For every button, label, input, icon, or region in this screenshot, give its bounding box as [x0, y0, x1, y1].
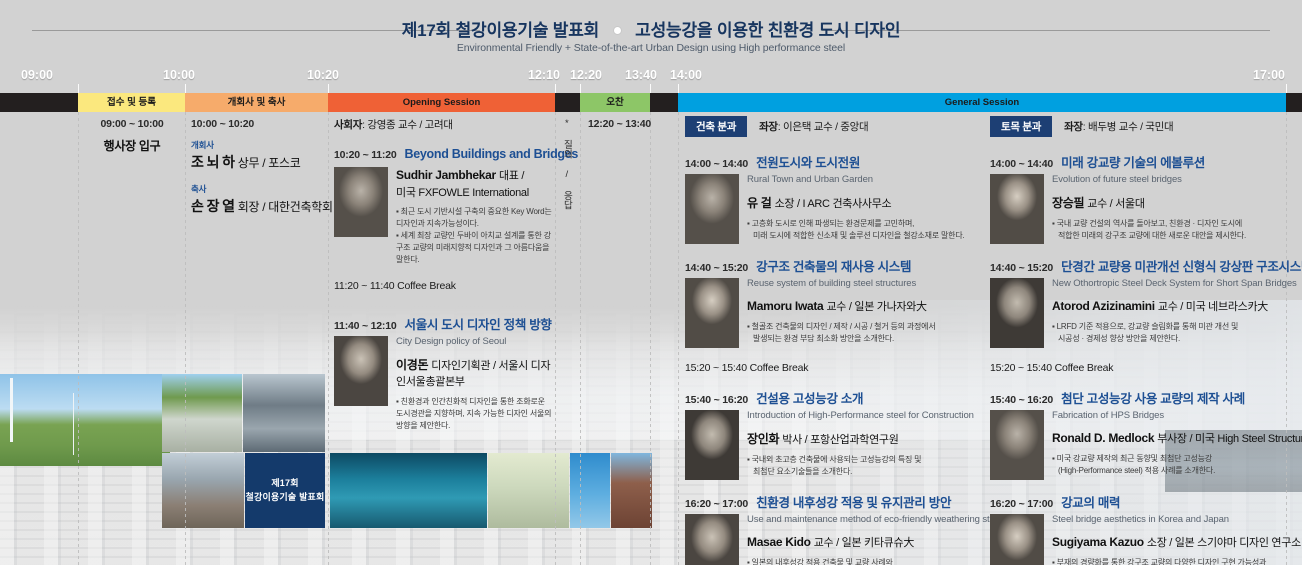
coffee-break-opening: 11:20 ~ 11:40 Coffee Break [334, 280, 552, 292]
timeline-bar-general-session: General Session [678, 93, 1286, 112]
talk-time: 14:00 ~ 14:40 [685, 158, 748, 170]
timeline-gap-start [0, 93, 78, 112]
talk-item: 15:40 ~ 16:20 첨단 고성능강 사용 교량의 제작 사례 Fabri… [990, 388, 1302, 480]
opening-remark-speaker: 조 뇌 하 상무 / 포스코 [191, 152, 324, 172]
speaker-photo [685, 278, 739, 348]
collage-badge-line1: 제17회 [271, 478, 298, 488]
timeline-bar-registration: 접수 및 등록 [78, 93, 185, 112]
talk-title-en: Steel bridge aesthetics in Korea and Jap… [1052, 514, 1302, 525]
timeline-tick-1020 [328, 84, 329, 93]
speaker-photo [685, 410, 739, 480]
talk-time: 16:20 ~ 17:00 [990, 498, 1053, 510]
opening-remark-role: 회장 / 대한건축학회 [238, 200, 333, 214]
bullet-dot-icon [613, 26, 622, 35]
timeline-tick-1340 [650, 84, 651, 93]
talk-speaker-role: 교수 / 서울대 [1087, 198, 1144, 210]
session-architecture: 건축 분과 좌장: 이은택 교수 / 중앙대 14:00 ~ 14:40 전원도… [685, 116, 981, 565]
collage-badge: 제17회 철강이용기술 발표회 [245, 453, 325, 528]
talk-item: 14:00 ~ 14:40 전원도시와 도시전원 Rural Town and … [685, 152, 981, 244]
talk-speaker: 이경돈 디자인기획관 / 서울시 디자인서울총괄본부 [396, 356, 552, 389]
talk-title-ko: 단경간 교량용 미관개선 신형식 강상판 구조시스템 [1061, 256, 1302, 275]
opening-remark-label: 축사 [191, 183, 324, 195]
timeline-tick-1220 [580, 84, 581, 93]
title-event-number: 제17회 철강이용기술 발표회 [402, 21, 599, 40]
talk-title-en: Reuse system of building steel structure… [747, 278, 981, 289]
talk-speaker: 장승필 교수 / 서울대 [1052, 194, 1302, 211]
column-lunch: 12:20 ~ 13:40 [588, 118, 648, 130]
registration-title: 행사장 입구 [82, 137, 182, 154]
talk-bullet: ▪ 철골조 건축물의 디자인 / 제작 / 시공 / 철거 등의 과정에서 [747, 321, 981, 333]
page-title: 제17회 철강이용기술 발표회 고성능강을 이용한 친환경 도시 디자인 [0, 16, 1302, 41]
timeline-gap-end [1286, 93, 1302, 112]
chair-label: 좌장 [1064, 121, 1083, 133]
talk-title-en: City Design policy of Seoul [396, 336, 552, 347]
column-opening-remarks: 10:00 ~ 10:20 개회사 조 뇌 하 상무 / 포스코 축사 손 장 … [191, 118, 324, 216]
talk-title-en: New Othortropic Steel Deck System for Sh… [1052, 278, 1302, 289]
timeline-gap-1340-1400 [650, 93, 678, 112]
moderator-label: 사회자 [334, 119, 362, 131]
opening-remark-speaker: 손 장 열 회장 / 대한건축학회 [191, 196, 324, 216]
talk-item: 14:00 ~ 14:40 미래 강교량 기술의 에볼루션 Evolution … [990, 152, 1302, 244]
talk-speaker-role: 박사 / 포항산업과학연구원 [782, 434, 898, 446]
speaker-photo [334, 336, 388, 406]
talk-affiliation: 미국 FXFOWLE International [396, 184, 552, 200]
photo-bicycles [243, 374, 325, 452]
talk-bullet: (High-Performance steel) 적용 사례를 소개한다. [1052, 465, 1302, 477]
timeline-tick-1000 [185, 84, 186, 93]
talk-bullet: ▪ 일본의 내후성강 적용 건축물 및 교량 사례와 [747, 557, 981, 565]
talk-item: 14:40 ~ 15:20 단경간 교량용 미관개선 신형식 강상판 구조시스템… [990, 256, 1302, 348]
timeline-label-1000: 10:00 [163, 68, 195, 82]
timeline-bar-lunch: 오찬 [580, 93, 650, 112]
talk-speaker: Sugiyama Kazuo 소장 / 일본 스기야마 디자인 연구소 [1052, 534, 1302, 550]
talk-item: 15:40 ~ 16:20 건설용 고성능강 소개 Introduction o… [685, 388, 981, 480]
collage-badge-line2: 철강이용기술 발표회 [245, 492, 324, 502]
talk-speaker: 장인화 박사 / 포항산업과학연구원 [747, 430, 981, 447]
talk-speaker-role: 교수 / 일본 가나자와大 [826, 301, 926, 313]
talk-speaker-role: 대표 / [499, 170, 524, 182]
talk-bullet: ▪ LRFD 기준 적용으로, 강교량 슬림화를 통해 미관 개선 및 [1052, 321, 1302, 333]
talk-item: 16:20 ~ 17:00 강교의 매력 Steel bridge aesthe… [990, 492, 1302, 565]
speaker-photo [685, 514, 739, 565]
poster-header: 제17회 철강이용기술 발표회 고성능강을 이용한 친환경 도시 디자인 Env… [0, 0, 1302, 62]
timeline-bar-opening-session: Opening Session [328, 93, 555, 112]
talk-bullet: ▪ 친환경과 인간친화적 디자인을 통한 조화로운 도시경관을 지향하며, 지속… [396, 396, 552, 432]
timeline-label-1700: 17:00 [1253, 68, 1285, 82]
talk-time: 14:00 ~ 14:40 [990, 158, 1053, 170]
talk-bullet: ▪ 미국 강교량 제작의 최근 동향및 최첨단 고성능강 [1052, 453, 1302, 465]
divider-1340 [650, 112, 651, 565]
talk-item: 14:40 ~ 15:20 강구조 건축물의 재사용 시스템 Reuse sys… [685, 256, 981, 348]
registration-time: 09:00 ~ 10:00 [82, 118, 182, 130]
talk-bullet: ▪ 세계 최장 교량인 두바이 아치교 설계를 통한 강구조 교량의 미래지향적… [396, 230, 552, 266]
divider-1220 [580, 112, 581, 565]
talk-speaker-role: 교수 / 미국 네브라스카大 [1158, 301, 1268, 313]
photo-street-cyclists [162, 453, 244, 528]
speaker-photo [990, 514, 1044, 565]
divider-1000 [185, 112, 186, 565]
speaker-photo [990, 410, 1044, 480]
coffee-break-civil: 15:20 ~ 15:40 Coffee Break [990, 362, 1302, 374]
column-registration: 09:00 ~ 10:00 행사장 입구 [82, 118, 182, 154]
talk-title-ko: 강교의 매력 [1061, 492, 1120, 511]
timeline-tick-1700 [1286, 84, 1287, 93]
opening-remark-role: 상무 / 포스코 [238, 156, 301, 170]
talk-title-en: Use and maintenance method of eco-friend… [747, 514, 981, 525]
timeline-label-1220: 12:20 [570, 68, 602, 82]
page-subtitle: Environmental Friendly + State-of-the-ar… [0, 42, 1302, 54]
timeline-bar-opening-remarks: 개회사 및 축사 [185, 93, 328, 112]
talk-item: 10:20 ~ 11:20 Beyond Buildings and Bridg… [334, 147, 552, 266]
timeline: 09:00 10:00 10:20 12:10 12:20 13:40 14:0… [0, 68, 1302, 112]
divider-1210 [555, 112, 556, 565]
photo-village [162, 374, 242, 452]
talk-bullet: ▪ 국내외 초고층 건축물에 사용되는 고성능강의 특징 및 [747, 454, 981, 466]
talk-time: 15:40 ~ 16:20 [685, 394, 748, 406]
divider-1020 [328, 112, 329, 565]
photo-tower-blue [570, 453, 610, 528]
lunch-time: 12:20 ~ 13:40 [588, 118, 648, 130]
chair-label: 좌장 [759, 121, 778, 133]
opening-remark-item: 개회사 조 뇌 하 상무 / 포스코 [191, 139, 324, 172]
talk-title-ko: 전원도시와 도시전원 [756, 152, 860, 171]
talk-speaker: Sudhir Jambhekar 대표 / [396, 167, 552, 183]
talk-bullet: 시공성 · 경제성 향상 방안을 제안한다. [1052, 333, 1302, 345]
timeline-gap-1210-1220 [555, 93, 580, 112]
talk-time: 14:40 ~ 15:20 [990, 262, 1053, 274]
speaker-photo [334, 167, 388, 237]
section-tag-civil: 토목 분과 [990, 116, 1052, 137]
talk-speaker-role: 소장 / 일본 스기야마 디자인 연구소 [1147, 537, 1301, 549]
talk-bullet: ▪ 부재의 경량화를 통한 강구조 교량의 다양한 디자인 구현 가능성과 [1052, 557, 1302, 565]
talk-speaker: 유 걸 소장 / I ARC 건축사사무소 [747, 194, 981, 211]
talk-title-en: Fabrication of HPS Bridges [1052, 410, 1302, 421]
talk-title-ko: Beyond Buildings and Bridges [405, 147, 579, 161]
chair-value: : 배두병 교수 / 국민대 [1083, 121, 1174, 133]
photo-shell-structure [488, 453, 569, 528]
photo-dubai-bridge [330, 453, 487, 528]
talk-speaker: Masae Kido 교수 / 일본 키타큐슈大 [747, 534, 981, 550]
speaker-photo [685, 174, 739, 244]
opening-remark-item: 축사 손 장 열 회장 / 대한건축학회 [191, 183, 324, 216]
talk-item: 16:20 ~ 17:00 친환경 내후성강 적용 및 유지관리 방안 Use … [685, 492, 981, 565]
talk-title-en: Evolution of future steel bridges [1052, 174, 1302, 185]
speaker-photo [990, 174, 1044, 244]
talk-title-en: Introduction of High-Performance steel f… [747, 410, 981, 421]
talk-speaker: Atorod Azizinamini 교수 / 미국 네브라스카大 [1052, 298, 1302, 314]
talk-title-ko: 첨단 고성능강 사용 교량의 제작 사례 [1061, 388, 1245, 407]
chair-value: : 이은택 교수 / 중앙대 [778, 121, 869, 133]
talk-bullet: ▪ 고층화 도시로 인해 파생되는 환경문제를 고민하며, [747, 218, 981, 230]
photo-tower-bronze [611, 453, 652, 528]
talk-time: 14:40 ~ 15:20 [685, 262, 748, 274]
talk-title-ko: 친환경 내후성강 적용 및 유지관리 방안 [756, 492, 951, 511]
divider-0900 [78, 112, 79, 565]
timeline-tick-1400 [678, 84, 679, 93]
talk-title-ko: 건설용 고성능강 소개 [756, 388, 863, 407]
opening-session-moderator: 사회자: 강영종 교수 / 고려대 [334, 117, 552, 132]
timeline-label-1020: 10:20 [307, 68, 339, 82]
photo-wind-turbines [0, 374, 170, 466]
talk-title-ko: 강구조 건축물의 재사용 시스템 [756, 256, 911, 275]
section-tag-architecture: 건축 분과 [685, 116, 747, 137]
moderator-value: : 강영종 교수 / 고려대 [362, 119, 453, 131]
talk-title-ko: 서울시 도시 디자인 정책 방향 [405, 314, 552, 333]
opening-remarks-time: 10:00 ~ 10:20 [191, 118, 324, 130]
talk-speaker-role: 소장 / I ARC 건축사사무소 [775, 198, 892, 210]
talk-bullet: ▪ 국내 교량 건설의 역사를 돌아보고, 친환경 · 디자인 도시에 [1052, 218, 1302, 230]
divider-1400 [678, 112, 679, 565]
coffee-break-architecture: 15:20 ~ 15:40 Coffee Break [685, 362, 981, 374]
talk-bullet: 적합한 미래의 강구조 교량에 대한 새로운 대안을 제시한다. [1052, 230, 1302, 242]
talk-time: 16:20 ~ 17:00 [685, 498, 748, 510]
talk-title-en: Rural Town and Urban Garden [747, 174, 981, 185]
section-chair-architecture: 좌장: 이은택 교수 / 중앙대 [759, 119, 868, 134]
talk-speaker: Ronald D. Medlock 부사장 / 미국 High Steel St… [1052, 430, 1302, 446]
column-opening-session: 사회자: 강영종 교수 / 고려대 10:20 ~ 11:20 Beyond B… [334, 117, 552, 432]
talk-bullet: 발생되는 환경 부담 최소화 방안을 소개한다. [747, 333, 981, 345]
talk-bullet: 최첨단 요소기술들을 소개한다. [747, 466, 981, 478]
talk-title-ko: 미래 강교량 기술의 에볼루션 [1061, 152, 1205, 171]
talk-bullet: ▪ 최근 도시 기반시설 구축의 중요한 Key Word는 디자인과 지속가능… [396, 206, 552, 230]
timeline-tick-0900 [78, 84, 79, 93]
timeline-tick-1210 [555, 84, 556, 93]
session-civil: 토목 분과 좌장: 배두병 교수 / 국민대 14:00 ~ 14:40 미래 … [990, 116, 1302, 565]
timeline-label-1210: 12:10 [528, 68, 560, 82]
talk-time: 11:40 ~ 12:10 [334, 320, 397, 332]
talk-time: 15:40 ~ 16:20 [990, 394, 1053, 406]
talk-speaker: Mamoru Iwata 교수 / 일본 가나자와大 [747, 298, 981, 314]
timeline-label-0900: 09:00 [21, 68, 53, 82]
timeline-label-1340: 13:40 [625, 68, 657, 82]
talk-speaker-role: 부사장 / 미국 High Steel Structures, Inc. [1157, 433, 1302, 445]
talk-speaker-role: 교수 / 일본 키타큐슈大 [814, 537, 914, 549]
section-chair-civil: 좌장: 배두병 교수 / 국민대 [1064, 119, 1173, 134]
talk-time: 10:20 ~ 11:20 [334, 149, 397, 161]
program-poster: 제17회 철강이용기술 발표회 제17회 철강이용기술 발표회 고성능강을 이용… [0, 0, 1302, 565]
timeline-label-1400: 14:00 [670, 68, 702, 82]
opening-remark-label: 개회사 [191, 139, 324, 151]
title-theme: 고성능강을 이용한 친환경 도시 디자인 [635, 21, 900, 40]
qna-vertical-label: * 질의 / 응답 [560, 118, 572, 209]
speaker-photo [990, 278, 1044, 348]
talk-bullet: 미래 도시에 적합한 신소재 및 솔루션 디자인을 철강소재로 말한다. [747, 230, 981, 242]
talk-item: 11:40 ~ 12:10 서울시 도시 디자인 정책 방향 City Desi… [334, 314, 552, 432]
